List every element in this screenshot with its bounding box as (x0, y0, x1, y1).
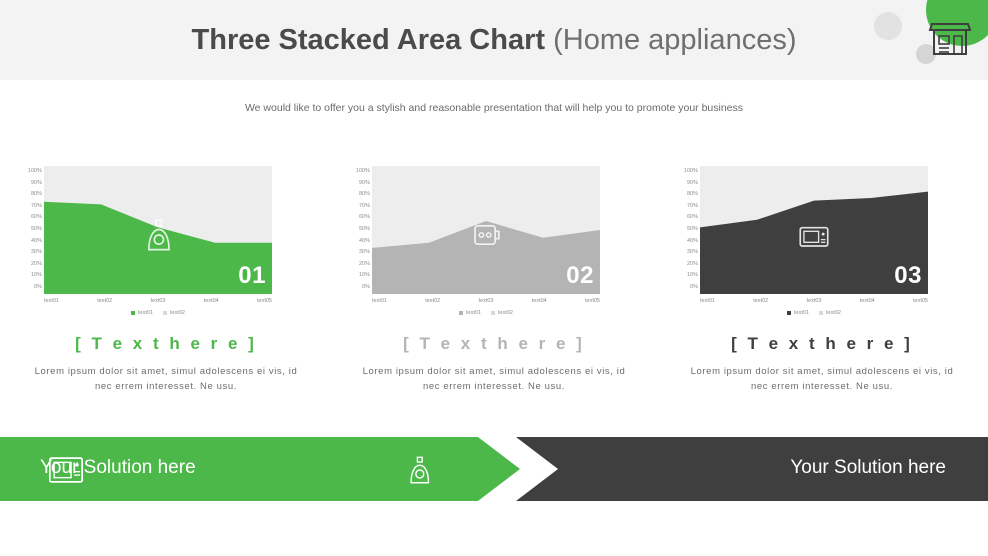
y-tick: 70% (672, 201, 698, 213)
legend-label: text01 (138, 310, 153, 316)
y-tick: 90% (672, 178, 698, 190)
column-02: 100% 90% 80% 70% 60% 50% 40% 30% 20% 10%… (344, 160, 644, 394)
y-tick: 80% (16, 189, 42, 201)
shop-icon (926, 14, 974, 62)
footer-right-label: Your Solution here (790, 457, 946, 479)
legend-label: text01 (794, 310, 809, 316)
legend-label: text02 (498, 310, 513, 316)
chart-index-03: 03 (894, 262, 922, 290)
legend-swatch (163, 311, 167, 315)
y-tick: 60% (16, 212, 42, 224)
y-tick: 20% (344, 259, 370, 271)
x-tick: text04 (532, 298, 547, 304)
column-body-03: Lorem ipsum dolor sit amet, simul adoles… (672, 364, 972, 394)
page-title: Three Stacked Area Chart (Home appliance… (0, 22, 988, 58)
x-axis-02: text01 text02 text03 text04 text05 (372, 298, 600, 304)
page-title-strong: Three Stacked Area Chart (192, 24, 546, 56)
microwave-icon (792, 213, 836, 257)
legend-entry: text02 (491, 310, 513, 316)
y-tick: 60% (344, 212, 370, 224)
page-title-light: (Home appliances) (553, 24, 796, 56)
x-axis-01: text01 text02 text03 text04 text05 (44, 298, 272, 304)
decor-circle-grey-large (874, 12, 902, 40)
page-subtitle: We would like to offer you a stylish and… (0, 102, 988, 114)
y-tick: 40% (16, 236, 42, 248)
y-tick: 80% (344, 189, 370, 201)
y-tick: 0% (672, 282, 698, 294)
vacuum-cleaner-icon (400, 451, 438, 489)
y-tick: 30% (344, 247, 370, 259)
y-tick: 0% (344, 282, 370, 294)
footer-strip (0, 501, 988, 556)
y-tick: 20% (672, 259, 698, 271)
footer-banners: Your Solution here Your Solution here (0, 437, 988, 501)
y-tick: 40% (344, 236, 370, 248)
x-tick: text02 (753, 298, 768, 304)
legend-swatch (787, 311, 791, 315)
y-tick: 100% (344, 166, 370, 178)
y-tick: 20% (16, 259, 42, 271)
legend-swatch (491, 311, 495, 315)
plot-area-02: 02 (372, 166, 600, 294)
y-axis-03: 100% 90% 80% 70% 60% 50% 40% 30% 20% 10%… (672, 166, 698, 294)
plot-area-01: 01 (44, 166, 272, 294)
legend-03: text01 text02 (700, 310, 928, 316)
column-heading-01: [ T e x t h e r e ] (16, 334, 316, 354)
chart-index-01: 01 (238, 262, 266, 290)
y-tick: 50% (344, 224, 370, 236)
plot-area-03: 03 (700, 166, 928, 294)
x-axis-03: text01 text02 text03 text04 text05 (700, 298, 928, 304)
chart-index-02: 02 (566, 262, 594, 290)
x-tick: text02 (97, 298, 112, 304)
x-tick: text01 (44, 298, 59, 304)
x-tick: text05 (585, 298, 600, 304)
x-tick: text03 (479, 298, 494, 304)
vacuum-cleaner-icon (136, 213, 180, 257)
x-tick: text02 (425, 298, 440, 304)
legend-entry: text01 (459, 310, 481, 316)
x-tick: text04 (860, 298, 875, 304)
legend-label: text02 (170, 310, 185, 316)
column-01: 100% 90% 80% 70% 60% 50% 40% 30% 20% 10%… (16, 160, 316, 394)
legend-entry: text01 (131, 310, 153, 316)
y-tick: 0% (16, 282, 42, 294)
y-tick: 60% (672, 212, 698, 224)
plug-socket-icon (464, 213, 508, 257)
y-tick: 70% (16, 201, 42, 213)
y-tick: 50% (16, 224, 42, 236)
page-header: Three Stacked Area Chart (Home appliance… (0, 0, 988, 80)
legend-01: text01 text02 (44, 310, 272, 316)
y-tick: 40% (672, 236, 698, 248)
legend-swatch (459, 311, 463, 315)
x-tick: text03 (807, 298, 822, 304)
x-tick: text04 (204, 298, 219, 304)
legend-swatch (819, 311, 823, 315)
x-tick: text05 (257, 298, 272, 304)
chart-02: 100% 90% 80% 70% 60% 50% 40% 30% 20% 10%… (344, 160, 644, 310)
y-tick: 50% (672, 224, 698, 236)
y-axis-01: 100% 90% 80% 70% 60% 50% 40% 30% 20% 10%… (16, 166, 42, 294)
x-tick: text01 (700, 298, 715, 304)
legend-entry: text01 (787, 310, 809, 316)
column-03: 100% 90% 80% 70% 60% 50% 40% 30% 20% 10%… (672, 160, 972, 394)
legend-entry: text02 (163, 310, 185, 316)
header-decoration (868, 0, 988, 80)
y-tick: 10% (344, 270, 370, 282)
y-tick: 80% (672, 189, 698, 201)
y-tick: 100% (16, 166, 42, 178)
y-tick: 70% (344, 201, 370, 213)
microwave-icon (45, 453, 87, 487)
column-heading-02: [ T e x t h e r e ] (344, 334, 644, 354)
legend-label: text01 (466, 310, 481, 316)
y-tick: 90% (344, 178, 370, 190)
legend-entry: text02 (819, 310, 841, 316)
chart-03: 100% 90% 80% 70% 60% 50% 40% 30% 20% 10%… (672, 160, 972, 310)
x-tick: text03 (151, 298, 166, 304)
column-body-02: Lorem ipsum dolor sit amet, simul adoles… (344, 364, 644, 394)
x-tick: text01 (372, 298, 387, 304)
legend-02: text01 text02 (372, 310, 600, 316)
chart-01: 100% 90% 80% 70% 60% 50% 40% 30% 20% 10%… (16, 160, 316, 310)
legend-label: text02 (826, 310, 841, 316)
column-heading-03: [ T e x t h e r e ] (672, 334, 972, 354)
y-tick: 90% (16, 178, 42, 190)
column-body-01: Lorem ipsum dolor sit amet, simul adoles… (16, 364, 316, 394)
y-tick: 10% (16, 270, 42, 282)
legend-swatch (131, 311, 135, 315)
y-tick: 30% (672, 247, 698, 259)
y-tick: 10% (672, 270, 698, 282)
y-tick: 100% (672, 166, 698, 178)
y-tick: 30% (16, 247, 42, 259)
x-tick: text05 (913, 298, 928, 304)
y-axis-02: 100% 90% 80% 70% 60% 50% 40% 30% 20% 10%… (344, 166, 370, 294)
